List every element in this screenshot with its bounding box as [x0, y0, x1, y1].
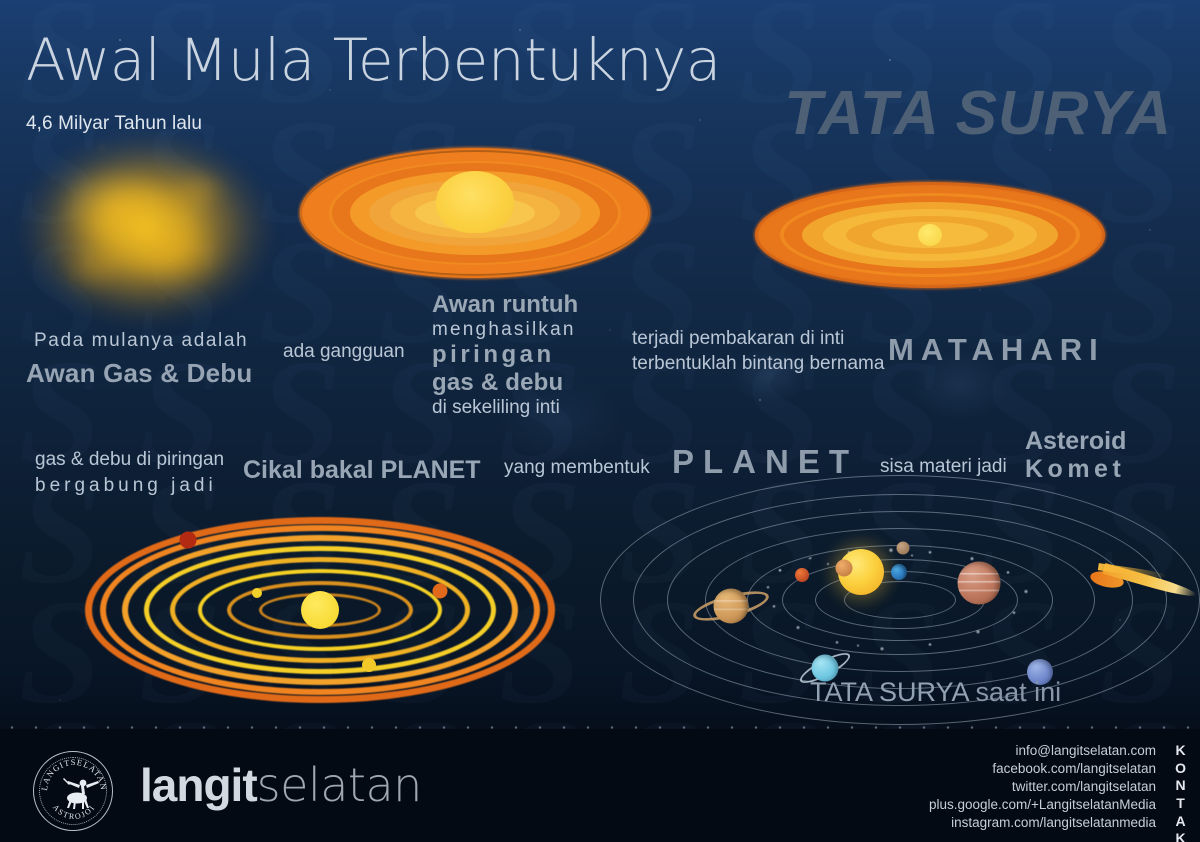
protoplanet-red [180, 531, 197, 548]
protoplanet-yellow [362, 658, 376, 672]
planet-jupiter [958, 562, 1001, 605]
comet [1090, 558, 1200, 600]
step3-line2: menghasilkan [432, 319, 578, 341]
contact-item[interactable]: info@langitselatan.com [929, 742, 1156, 760]
step1-line2: Awan Gas & Debu [26, 358, 252, 389]
step11-block: Asteroid Komet [1025, 427, 1126, 483]
planet-saturn [692, 586, 770, 626]
planet-label: PLANET [672, 443, 858, 481]
planet-venus [836, 560, 853, 577]
matahari-label: MATAHARI [888, 332, 1105, 368]
page-subtitle: 4,6 Milyar Tahun lalu [26, 113, 202, 135]
tata-surya-now-caption: TATA SURYA saat ini [810, 677, 1061, 708]
planet-mars [795, 568, 809, 582]
tata-surya-now-light: saat ini [976, 677, 1062, 707]
step6-block: gas & debu di piringan bergabung jadi [35, 447, 224, 498]
brand-wordmark: langitselatan [140, 762, 422, 808]
kontak-letter: K [1175, 830, 1187, 842]
contact-item[interactable]: instagram.com/langitselatanmedia [929, 814, 1156, 832]
step10-label: sisa materi jadi [880, 456, 1007, 478]
contact-item[interactable]: plus.google.com/+LangitselatanMedia [929, 796, 1156, 814]
contact-item[interactable]: facebook.com/langitselatan [929, 760, 1156, 778]
planet-earth [891, 564, 907, 580]
seal-top-text: LANGITSELATAN [40, 758, 108, 791]
protoplanet-rings-illustration [85, 515, 555, 705]
step3-line1: Awan runtuh [432, 291, 578, 319]
protoplanetary-disk-illustration [300, 145, 650, 280]
seal-centaur-icon [63, 778, 99, 809]
step4-block: terjadi pembakaran di inti terbentuklah … [632, 327, 884, 376]
step8-label: yang membentuk [504, 457, 650, 479]
brand-bold: langit [140, 759, 257, 811]
protostar [301, 591, 339, 629]
kontak-letter: A [1175, 813, 1187, 831]
brand-light: selatan [257, 758, 422, 812]
step6-line2: bergabung jadi [35, 473, 224, 499]
protoplanet-orange [432, 584, 447, 599]
step11-line2: Komet [1025, 455, 1126, 483]
planet-mercury [897, 542, 910, 555]
step4-line1: terjadi pembakaran di inti [632, 327, 884, 352]
contact-item[interactable]: twitter.com/langitselatan [929, 778, 1156, 796]
kontak-letter: O [1175, 760, 1187, 778]
tata-surya-now-bold: TATA SURYA [810, 677, 976, 707]
infographic-poster: SSSSSSSSSSSSSSSSSSSSSSSSSSSSSSSSSSSSSSSS… [0, 0, 1200, 842]
svg-text:LANGITSELATAN: LANGITSELATAN [40, 758, 108, 791]
kontak-letter: K [1175, 742, 1187, 760]
star-formation-disk-illustration [755, 180, 1105, 290]
kontak-letter: N [1175, 777, 1187, 795]
step3-line4: gas & debu [432, 369, 578, 397]
gas-dust-cloud-grain [12, 118, 280, 340]
step3-line5: di sekeliling inti [432, 397, 578, 419]
step6-line1: gas & debu di piringan [35, 447, 224, 473]
step2-label: ada gangguan [283, 341, 405, 363]
step1-line1: Pada mulanya adalah [34, 330, 248, 352]
contact-list: info@langitselatan.comfacebook.com/langi… [929, 742, 1156, 832]
asteroid-belt [750, 547, 1050, 653]
kontak-letter: T [1175, 795, 1187, 813]
step3-line3: piringan [432, 341, 578, 369]
step7-label: Cikal bakal PLANET [243, 456, 481, 485]
step4-line2: terbentuklah bintang bernama [632, 352, 884, 377]
protoplanet-yellow-small [252, 588, 262, 598]
footer-separator [0, 726, 1200, 729]
modern-solar-system-illustration [635, 500, 1165, 700]
page-title: Awal Mula Terbentuknya [26, 26, 721, 94]
langitselatan-seal-logo: LANGITSELATAN ASTROJOI [33, 751, 113, 831]
step3-block: Awan runtuh menghasilkan piringan gas & … [432, 291, 578, 419]
kontak-vertical-label: KONTAK [1175, 742, 1187, 842]
tata-surya-headline: TATA SURYA [784, 78, 1172, 149]
step11-line1: Asteroid [1025, 427, 1126, 455]
